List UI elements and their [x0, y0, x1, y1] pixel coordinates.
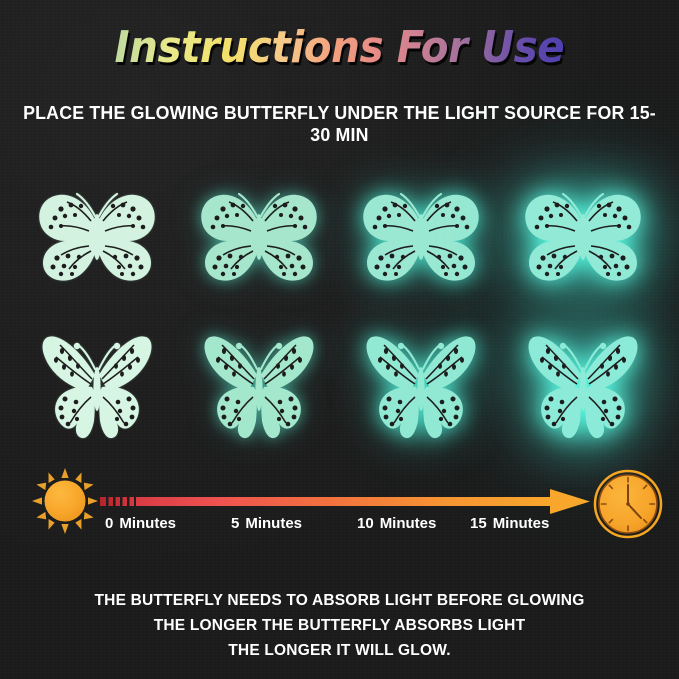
page-title: Instructions For Use	[115, 22, 565, 73]
timeline-label-0-num: 0	[105, 515, 113, 532]
footer-line-3: THE LONGER IT WILL GLOW.	[10, 638, 669, 663]
timeline-label-1-num: 5	[231, 515, 239, 532]
timeline-label-3: 15Minutes	[470, 515, 549, 532]
butterfly-row-1	[0, 178, 679, 298]
timeline-label-3-unit: Minutes	[493, 515, 550, 532]
timeline-label-2-unit: Minutes	[380, 515, 437, 532]
footer-line-2: THE LONGER THE BUTTERFLY ABSORBS LIGHT	[10, 613, 669, 638]
butterfly-row2-5min	[189, 326, 329, 446]
butterfly-row1-5min	[189, 178, 329, 298]
timeline-label-0: 0Minutes	[105, 515, 176, 532]
butterfly-row2-0min	[27, 326, 167, 446]
footer-line-1: THE BUTTERFLY NEEDS TO ABSORB LIGHT BEFO…	[10, 588, 669, 613]
timeline-labels: 0Minutes 5Minutes 10Minutes 15Minutes	[0, 515, 679, 541]
instruction-poster: Instructions For Use PLACE THE GLOWING B…	[0, 0, 679, 679]
butterfly-row-2	[0, 326, 679, 446]
footer-text: THE BUTTERFLY NEEDS TO ABSORB LIGHT BEFO…	[0, 588, 679, 663]
timeline-label-3-num: 15	[470, 515, 487, 532]
butterfly-row1-10min	[351, 178, 491, 298]
timeline-label-1-unit: Minutes	[245, 515, 302, 532]
title-container: Instructions For Use	[0, 22, 679, 73]
butterfly-row1-0min	[27, 178, 167, 298]
time-arrow	[100, 487, 592, 517]
butterfly-row2-15min	[513, 326, 653, 446]
timeline-label-1: 5Minutes	[231, 515, 302, 532]
timeline-label-0-unit: Minutes	[119, 515, 176, 532]
butterfly-row2-10min	[351, 326, 491, 446]
timeline-label-2: 10Minutes	[357, 515, 436, 532]
timeline-label-2-num: 10	[357, 515, 374, 532]
subtitle-text: PLACE THE GLOWING BUTTERFLY UNDER THE LI…	[14, 102, 666, 146]
butterfly-row1-15min	[513, 178, 653, 298]
